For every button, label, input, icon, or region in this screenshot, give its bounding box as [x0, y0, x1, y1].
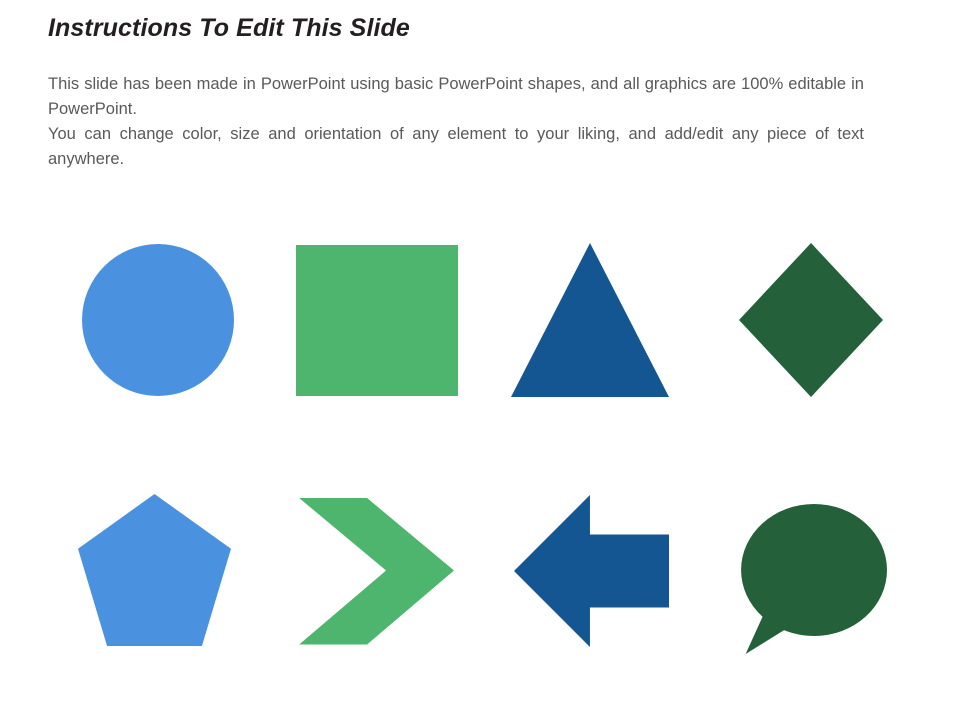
chevron-right-icon	[296, 495, 454, 646]
triangle-shape[interactable]	[511, 243, 669, 397]
chevron-shape[interactable]	[296, 495, 454, 646]
circle-shape[interactable]	[82, 244, 234, 396]
pentagon-shape[interactable]	[78, 494, 231, 646]
slide-canvas: Instructions To Edit This Slide This sli…	[0, 0, 960, 720]
diamond-shape[interactable]	[739, 243, 883, 397]
instructions-paragraph-2: You can change color, size and orientati…	[48, 122, 864, 172]
page-title: Instructions To Edit This Slide	[48, 12, 848, 45]
arrow-left-icon	[514, 495, 669, 647]
circle-icon	[82, 244, 234, 396]
instructions-text-block: This slide has been made in PowerPoint u…	[48, 72, 864, 172]
speech-bubble-icon	[735, 504, 887, 654]
square-shape[interactable]	[296, 245, 458, 396]
triangle-icon	[511, 243, 669, 397]
left-arrow-shape[interactable]	[514, 495, 669, 647]
pentagon-icon	[78, 494, 231, 646]
instructions-paragraph-1: This slide has been made in PowerPoint u…	[48, 72, 864, 122]
diamond-icon	[739, 243, 883, 397]
square-icon	[296, 245, 458, 396]
speech-bubble-shape[interactable]	[735, 504, 887, 654]
